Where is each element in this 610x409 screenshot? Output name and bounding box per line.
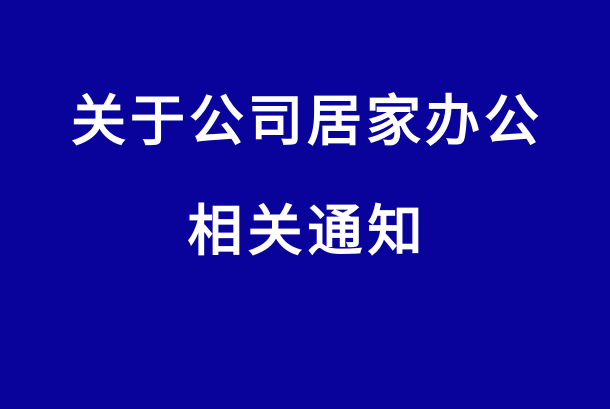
notice-title-block: 关于公司居家办公 相关通知	[0, 0, 610, 409]
notice-title-line-1: 关于公司居家办公	[67, 94, 543, 149]
notice-title-line-2: 相关通知	[182, 204, 427, 259]
notice-banner: 关于公司居家办公 相关通知	[0, 0, 610, 409]
